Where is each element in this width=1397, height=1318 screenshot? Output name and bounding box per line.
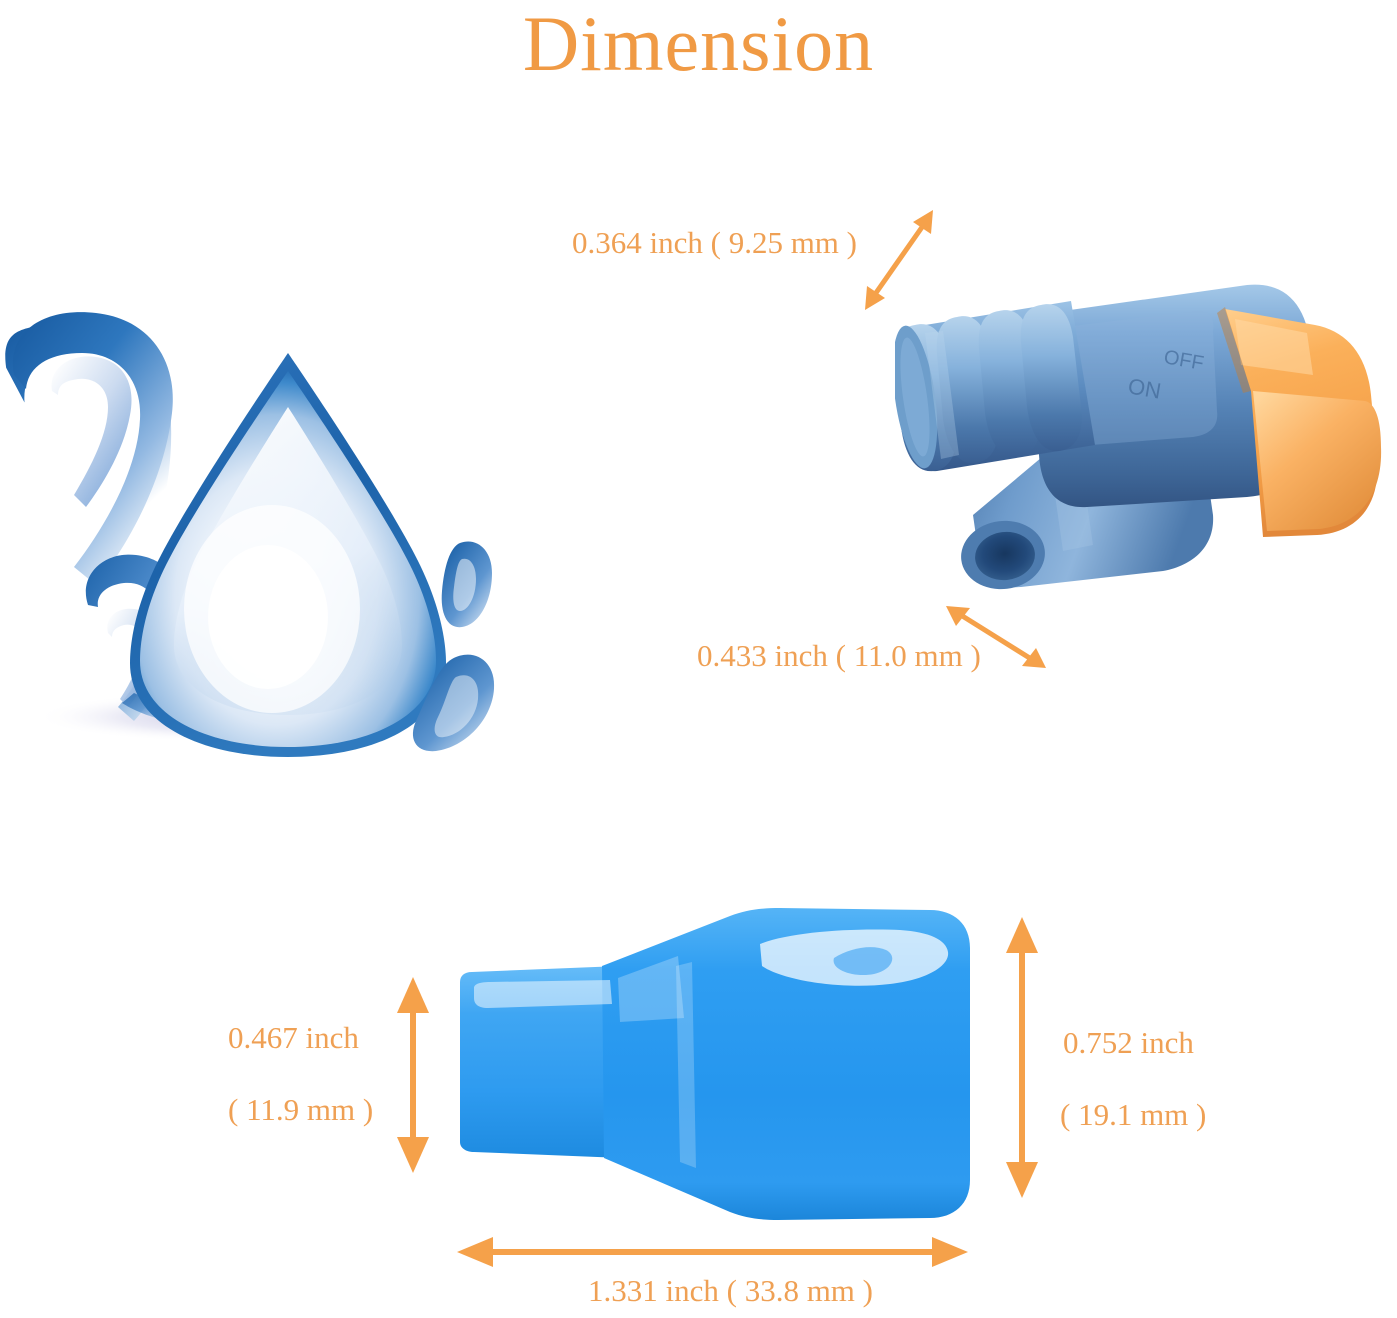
dimension-label-barb-diameter: 0.364 inch ( 9.25 mm ) xyxy=(572,215,857,271)
dimension-label-body-height-line2: ( 19.1 mm ) xyxy=(1060,1077,1206,1152)
droplet-splash-upper-left xyxy=(5,312,173,585)
shutoff-valve-photo: OFF ON xyxy=(895,215,1385,645)
dimension-label-neck-height-line2: ( 11.9 mm ) xyxy=(228,1072,373,1147)
dimension-label-overall-length: 1.331 inch ( 33.8 mm ) xyxy=(588,1263,873,1318)
valve-barb-fitting xyxy=(895,301,1095,471)
water-droplet-illustration xyxy=(0,285,520,765)
dimension-label-neck-height-line1: 0.467 inch xyxy=(228,1000,359,1075)
droplet-body xyxy=(130,353,446,757)
dimension-arrow-body-height xyxy=(1000,915,1044,1200)
dimension-arrow-barb-diameter xyxy=(845,200,955,320)
bite-valve-highlight-neck xyxy=(474,980,612,1008)
bite-valve-photo xyxy=(430,900,1000,1230)
page-title: Dimension xyxy=(0,0,1397,90)
dimension-arrow-neck-height xyxy=(392,975,434,1175)
dimension-diagram-page: Dimension xyxy=(0,0,1397,1318)
dimension-label-tube-diameter: 0.433 inch ( 11.0 mm ) xyxy=(697,628,981,684)
dimension-label-body-height-line1: 0.752 inch xyxy=(1063,1005,1194,1080)
